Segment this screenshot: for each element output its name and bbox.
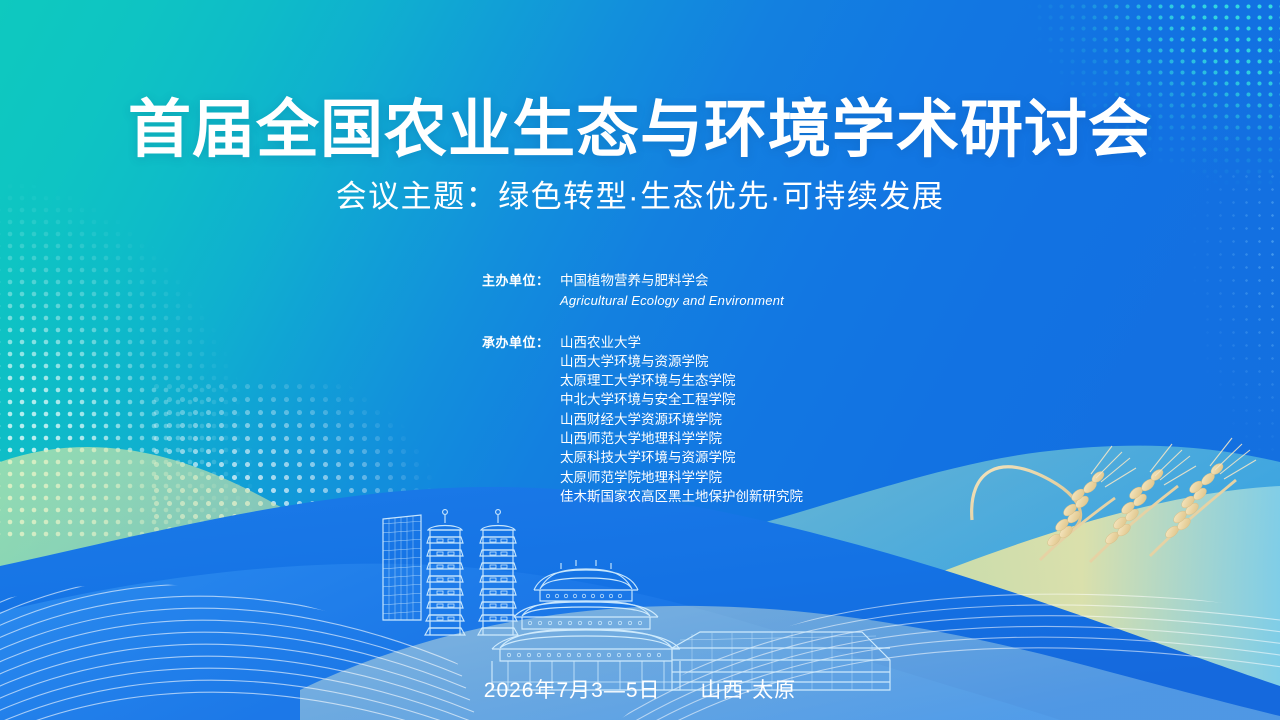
wheat-decoration — [972, 438, 1256, 562]
sub-title: 会议主题：绿色转型·生态优先·可持续发展 — [0, 178, 1280, 215]
co-organizer-label: 承办单位： — [482, 333, 554, 507]
footer-block: 2026年7月3—5日 山西·太原 — [0, 674, 1280, 704]
footer-date: 2026年7月3—5日 — [484, 679, 661, 702]
wheat-ribbon-stem — [972, 467, 1081, 536]
co-organizer-item: 太原师范学院地理科学学院 — [560, 468, 803, 487]
main-title: 首届全国农业生态与环境学术研讨会 — [0, 96, 1280, 164]
traditional-temple-hall-icon — [492, 560, 680, 690]
co-organizer-values: 山西农业大学 山西大学环境与资源学院 太原理工大学环境与生态学院 中北大学环境与… — [554, 333, 803, 507]
conference-poster: 首届全国农业生态与环境学术研讨会 会议主题：绿色转型·生态优先·可持续发展 主办… — [0, 0, 1280, 720]
organizer-name-en: Agricultural Ecology and Environment — [560, 290, 803, 310]
co-organizer-item: 太原科技大学环境与资源学院 — [560, 448, 803, 467]
twin-pagoda-left-icon — [425, 510, 465, 635]
taiyuan-skyline — [380, 510, 890, 690]
co-organizer-item: 山西师范大学地理科学学院 — [560, 429, 803, 448]
wheat-stalk-2 — [1090, 444, 1196, 562]
halftone-dots-mid-left — [150, 380, 480, 590]
wheat-stalk-3 — [1150, 438, 1256, 556]
organizer-row: 主办单位： 中国植物营养与肥料学会 Agricultural Ecology a… — [482, 271, 803, 311]
organizer-name: 中国植物营养与肥料学会 — [560, 271, 803, 290]
title-block: 首届全国农业生态与环境学术研讨会 会议主题：绿色转型·生态优先·可持续发展 — [0, 96, 1280, 215]
co-organizer-item: 佳木斯国家农高区黑土地保护创新研究院 — [560, 487, 803, 506]
co-organizer-row: 承办单位： 山西农业大学 山西大学环境与资源学院 太原理工大学环境与生态学院 中… — [482, 333, 803, 507]
co-organizer-item: 山西大学环境与资源学院 — [560, 352, 803, 371]
footer-location: 山西·太原 — [700, 679, 796, 702]
co-organizer-item: 太原理工大学环境与生态学院 — [560, 371, 803, 390]
co-organizer-item: 山西财经大学资源环境学院 — [560, 410, 803, 429]
organizers-block: 主办单位： 中国植物营养与肥料学会 Agricultural Ecology a… — [482, 271, 803, 528]
twin-pagoda-right-icon — [478, 510, 518, 635]
co-organizer-item: 中北大学环境与安全工程学院 — [560, 390, 803, 409]
modern-tower-icon — [380, 510, 425, 625]
organizer-label: 主办单位： — [482, 271, 554, 311]
co-organizer-item: 山西农业大学 — [560, 333, 803, 352]
organizer-values: 中国植物营养与肥料学会 Agricultural Ecology and Env… — [554, 271, 803, 311]
wheat-stalk-1 — [1040, 446, 1136, 560]
